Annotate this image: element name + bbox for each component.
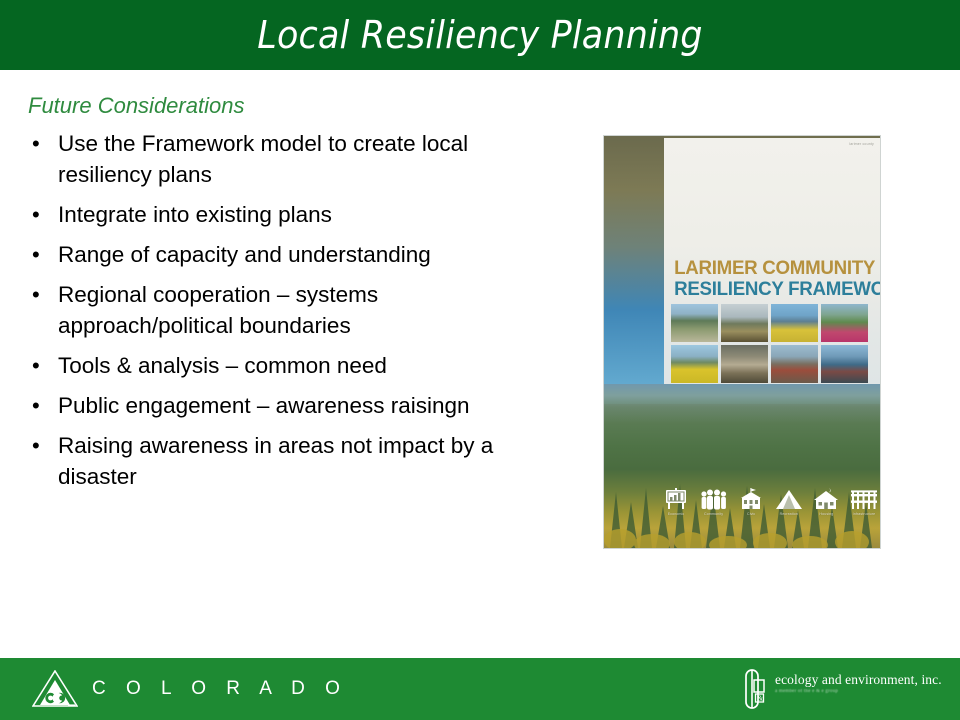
cover-icon-strip: Economic Community: [660, 488, 880, 517]
housing-house-icon: [812, 488, 840, 510]
list-item-label: Range of capacity and understanding: [58, 242, 431, 267]
icon-caption: Recreation: [773, 512, 805, 517]
icon-caption: Community: [698, 512, 730, 517]
colorado-logo: C O L O R A D O: [32, 670, 347, 708]
page-title: Local Resiliency Planning: [38, 14, 921, 56]
co-mountain-logo-icon: [32, 670, 78, 708]
cover-title-line1: LARIMER COMMUNITY: [674, 258, 872, 279]
bullet-marker: •: [32, 239, 40, 270]
infrastructure-bridge-icon: [850, 488, 878, 510]
list-item: • Regional cooperation – systems approac…: [28, 279, 558, 341]
photo-thumbnail: [771, 345, 818, 383]
infrastructure-bridge-icon-item: Infrastructure: [848, 488, 880, 517]
icon-caption: Civic: [735, 512, 767, 517]
report-cover-image: LARIMER COMMUNITY RESILIENCY FRAMEWORK: [604, 136, 880, 548]
list-item: • Integrate into existing plans: [28, 199, 558, 230]
list-item-label: Integrate into existing plans: [58, 202, 332, 227]
civic-school-icon-item: Civic: [735, 488, 767, 517]
cover-title: LARIMER COMMUNITY RESILIENCY FRAMEWORK: [670, 258, 876, 300]
content-column: Future Considerations • Use the Framewor…: [28, 92, 558, 501]
icon-caption: Housing: [810, 512, 842, 517]
natural-mountain-icon: [775, 488, 803, 510]
photo-thumbnail: [671, 304, 718, 342]
community-people-icon: [700, 488, 728, 510]
section-subheading: Future Considerations: [28, 92, 558, 120]
icon-caption: Economic: [660, 512, 692, 517]
community-people-icon-item: Community: [698, 488, 730, 517]
economy-chart-icon: [663, 488, 689, 510]
bullet-marker: •: [32, 350, 40, 381]
ee-text-block: ecology and environment, inc. a member o…: [775, 668, 942, 695]
bullet-marker: •: [32, 128, 40, 159]
list-item: • Tools & analysis – common need: [28, 350, 558, 381]
photo-thumbnail: [721, 345, 768, 383]
list-item: • Raising awareness in areas not impact …: [28, 430, 558, 492]
ee-monogram-logo-icon: &: [742, 668, 768, 710]
cover-photo-grid: [671, 304, 871, 383]
photo-thumbnail: [671, 345, 718, 383]
list-item-label: Raising awareness in areas not impact by…: [58, 433, 493, 489]
list-item-label: Public engagement – awareness raisingn: [58, 393, 470, 418]
svg-text:&: &: [758, 695, 764, 703]
photo-thumbnail: [771, 304, 818, 342]
list-item: • Public engagement – awareness raisingn: [28, 390, 558, 421]
civic-school-icon: [737, 488, 765, 510]
photo-thumbnail: [721, 304, 768, 342]
list-item: • Range of capacity and understanding: [28, 239, 558, 270]
bullet-list: • Use the Framework model to create loca…: [28, 128, 558, 492]
photo-thumbnail: [821, 345, 868, 383]
natural-mountain-icon-item: Recreation: [773, 488, 805, 517]
list-item-label: Regional cooperation – systems approach/…: [58, 282, 378, 338]
ecology-environment-logo: & ecology and environment, inc. a member…: [742, 668, 942, 710]
cover-corner-mark: larimer county: [849, 142, 874, 146]
colorado-wordmark: C O L O R A D O: [92, 679, 347, 699]
cover-title-line2: RESILIENCY FRAMEWORK: [674, 279, 872, 300]
bullet-marker: •: [32, 279, 40, 310]
list-item-label: Use the Framework model to create local …: [58, 131, 468, 187]
housing-house-icon-item: Housing: [810, 488, 842, 517]
bullet-marker: •: [32, 199, 40, 230]
ee-tagline: a member of the e & e group: [775, 688, 942, 695]
bullet-marker: •: [32, 390, 40, 421]
economy-chart-icon-item: Economic: [660, 488, 692, 517]
cover-left-shade: [604, 136, 664, 384]
bullet-marker: •: [32, 430, 40, 461]
photo-thumbnail: [821, 304, 868, 342]
icon-caption: Infrastructure: [848, 512, 880, 517]
list-item-label: Tools & analysis – common need: [58, 353, 387, 378]
list-item: • Use the Framework model to create loca…: [28, 128, 558, 190]
ee-company-name: ecology and environment, inc.: [775, 672, 942, 687]
slide-canvas: Local Resiliency Planning Future Conside…: [0, 0, 960, 720]
